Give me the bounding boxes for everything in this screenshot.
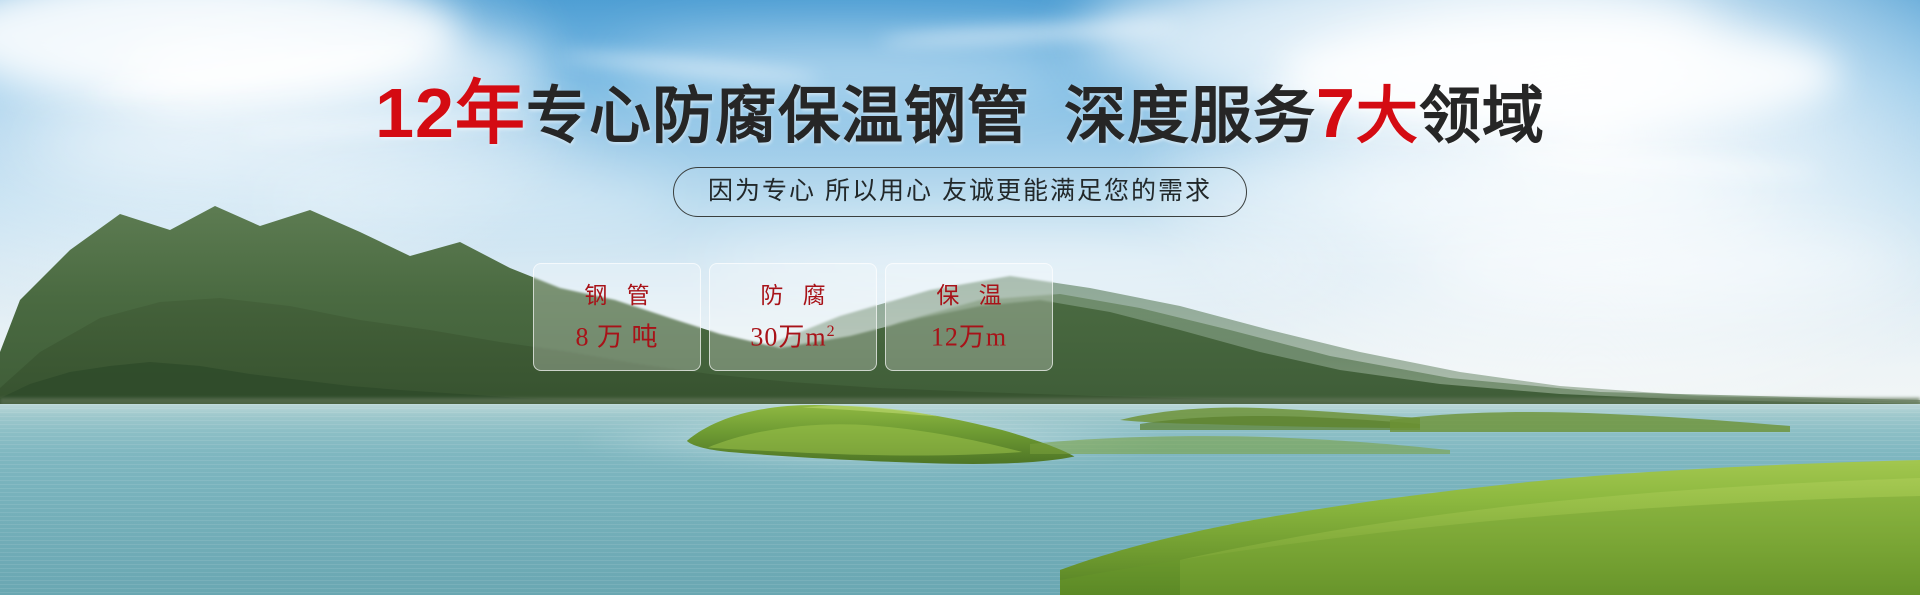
stat-card-value-text: 12万m [931, 322, 1007, 351]
stat-card-insulation[interactable]: 保 温 12万m [885, 263, 1053, 371]
headline: 12年专心防腐保温钢管深度服务7大领域 [0, 82, 1920, 148]
stat-card-anticorrosion[interactable]: 防 腐 30万m2 [709, 263, 877, 371]
stat-card-steel-pipe[interactable]: 钢 管 8 万 吨 [533, 263, 701, 371]
grass-foreground [1060, 420, 1920, 595]
headline-main-1: 专心防腐保温钢管 [526, 82, 1030, 151]
stat-card-value-text: 30万m [750, 322, 826, 351]
stat-card-label: 钢 管 [578, 284, 655, 308]
stat-card-value: 8 万 吨 [575, 318, 658, 351]
subtitle-pill: 因为专心 所以用心 友诚更能满足您的需求 [673, 167, 1247, 217]
headline-years-accent: 12年 [375, 74, 526, 152]
stat-card-label: 保 温 [930, 284, 1007, 308]
subtitle-container: 因为专心 所以用心 友诚更能满足您的需求 [0, 167, 1920, 217]
stat-card-value-sup: 2 [827, 323, 836, 340]
headline-main-2: 深度服务 [1064, 82, 1316, 151]
headline-main-3: 领域 [1419, 82, 1545, 151]
grass-island [645, 392, 1065, 464]
stat-card-value: 30万m2 [750, 318, 835, 351]
hero-banner: 12年专心防腐保温钢管深度服务7大领域 因为专心 所以用心 友诚更能满足您的需求… [0, 0, 1920, 595]
stat-card-value-text: 8 万 吨 [575, 322, 658, 351]
headline-seven-suffix: 大 [1356, 82, 1419, 151]
stat-card-value: 12万m [931, 318, 1007, 351]
headline-seven-accent: 7 [1316, 74, 1356, 152]
stat-cards: 钢 管 8 万 吨 防 腐 30万m2 保 温 12万m [533, 263, 1053, 371]
stat-card-label: 防 腐 [754, 284, 831, 308]
